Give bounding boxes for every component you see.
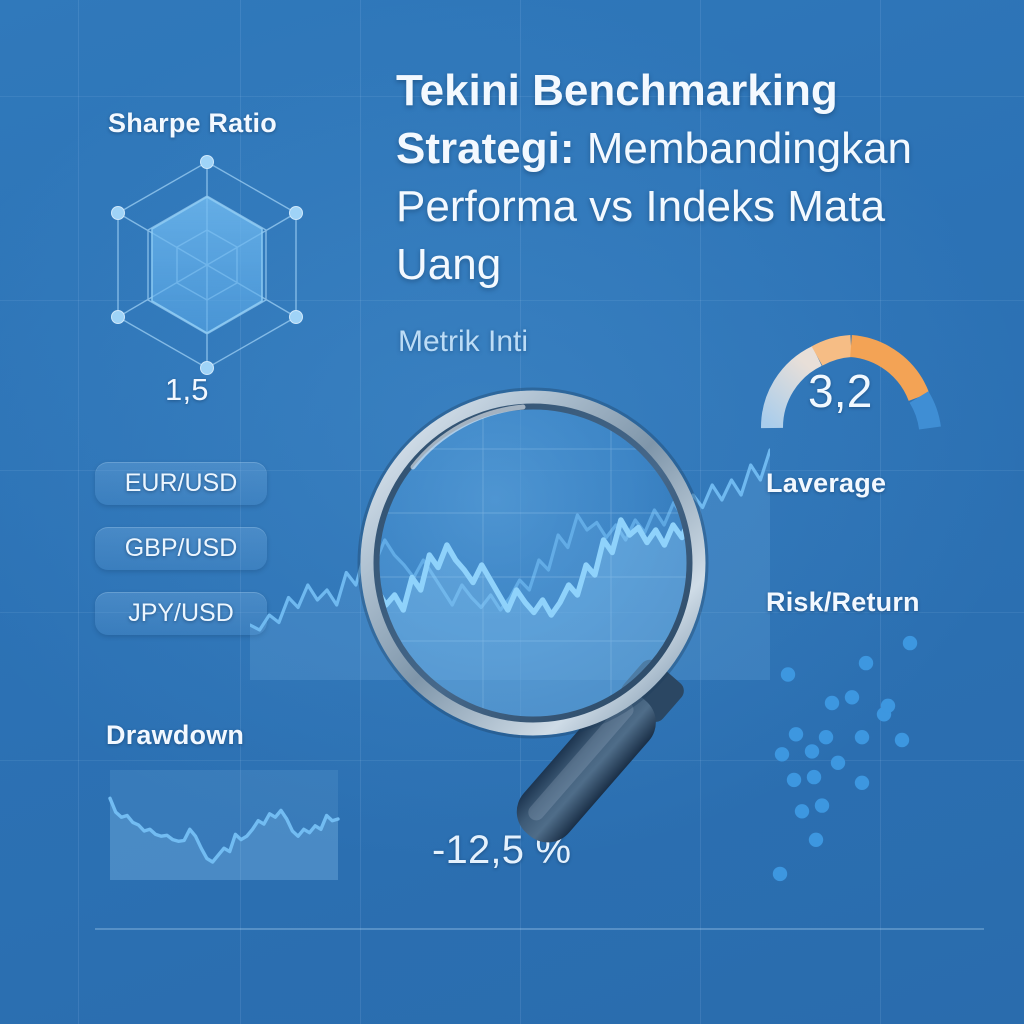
risk-return-label: Risk/Return <box>766 587 920 618</box>
scatter-point <box>815 798 829 812</box>
currency-pill-jpy-usd[interactable]: JPY/USD <box>95 592 267 635</box>
leverage-label: Laverage <box>766 468 886 499</box>
scatter-point <box>795 804 809 818</box>
currency-pill-eur-usd[interactable]: EUR/USD <box>95 462 267 505</box>
drawdown-label: Drawdown <box>106 720 244 751</box>
scatter-point <box>855 776 869 790</box>
scatter-point <box>831 756 845 770</box>
scatter-point <box>809 833 823 847</box>
scatter-point <box>845 690 859 704</box>
sharpe-ratio-label: Sharpe Ratio <box>108 108 277 139</box>
leverage-value-text: 3,2 <box>808 365 873 417</box>
scatter-point <box>775 747 789 761</box>
scatter-point <box>805 744 819 758</box>
page-subtitle: Metrik Inti <box>398 325 528 359</box>
grid-baseline <box>95 928 984 930</box>
page-title: Tekini Benchmarking Strategi: Membanding… <box>396 62 956 294</box>
scatter-point <box>773 867 787 881</box>
radar-hexagon-icon <box>92 150 322 380</box>
scatter-point <box>881 699 895 713</box>
scatter-point <box>807 770 821 784</box>
infographic-canvas: Tekini Benchmarking Strategi: Membanding… <box>0 0 1024 1024</box>
sharpe-ratio-value: 1,5 <box>165 372 209 408</box>
magnifying-glass-icon <box>355 385 795 855</box>
leverage-value: 3,2 <box>808 364 873 418</box>
area-chart-icon <box>88 770 360 880</box>
grid-vline <box>78 0 79 1024</box>
scatter-point <box>781 667 795 681</box>
scatter-point <box>787 773 801 787</box>
scatter-point <box>825 696 839 710</box>
scatter-point <box>895 733 909 747</box>
scatter-point <box>903 636 917 650</box>
scatter-point <box>859 656 873 670</box>
scatter-plot-icon <box>770 620 990 920</box>
currency-pill-gbp-usd[interactable]: GBP/USD <box>95 527 267 570</box>
scatter-point <box>789 727 803 741</box>
scatter-point <box>855 730 869 744</box>
scatter-point <box>819 730 833 744</box>
